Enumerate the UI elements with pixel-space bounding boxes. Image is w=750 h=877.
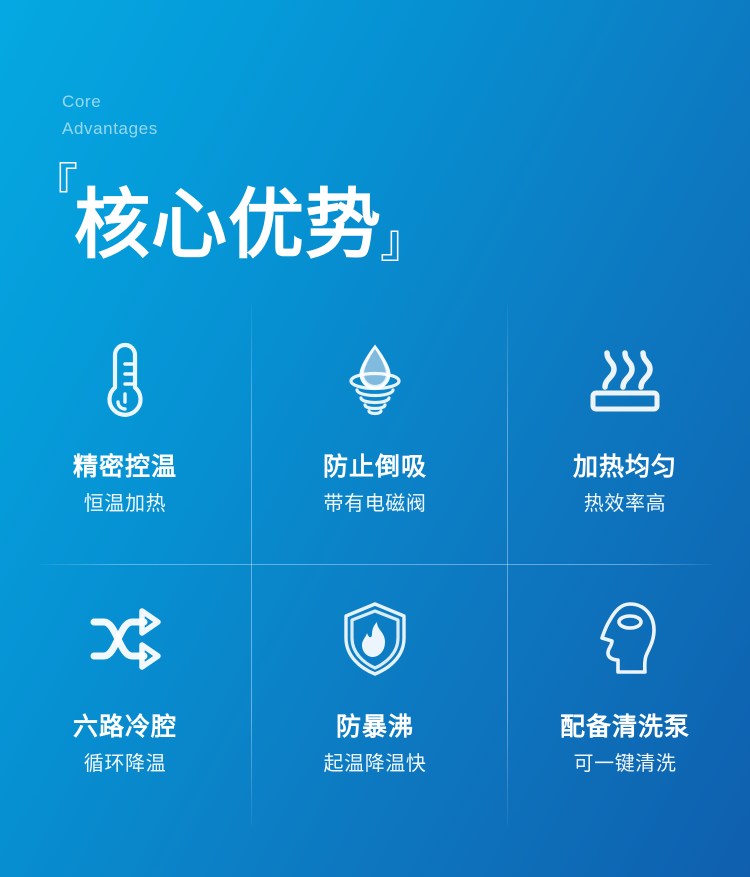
bracket-open-icon: 『	[32, 162, 78, 208]
feature-subtitle: 可一键清洗	[574, 749, 677, 777]
page-title: 『 核心优势 』	[32, 158, 426, 268]
feature-title: 六路冷腔	[73, 711, 177, 743]
feature-subtitle: 带有电磁阀	[324, 489, 427, 517]
feature-cell-5: 防暴沸 起温降温快	[250, 565, 500, 825]
shield-flame-icon	[340, 593, 410, 685]
shuffle-arrows-icon	[86, 593, 164, 685]
feature-title: 精密控温	[73, 451, 177, 483]
feature-cell-4: 六路冷腔 循环降温	[0, 565, 250, 825]
feature-subtitle: 起温降温快	[324, 749, 427, 777]
header: Core Advantages	[62, 88, 682, 142]
title-text: 核心优势	[74, 182, 382, 268]
core-advantages-poster: Core Advantages 『 核心优势 』 精密控温	[0, 0, 750, 877]
eyebrow-text: Core Advantages	[62, 88, 682, 142]
feature-subtitle: 恒温加热	[84, 489, 166, 517]
feature-cell-3: 加热均匀 热效率高	[500, 305, 750, 565]
feature-cell-2: 防止倒吸 带有电磁阀	[250, 305, 500, 565]
thermometer-icon	[94, 333, 156, 425]
feature-grid: 精密控温 恒温加热 防止倒吸 带有电磁阀	[0, 305, 750, 825]
feature-cell-1: 精密控温 恒温加热	[0, 305, 250, 565]
head-profile-icon	[592, 593, 658, 685]
feature-subtitle: 热效率高	[584, 489, 666, 517]
eyebrow-line-1: Core	[62, 88, 682, 115]
feature-title: 防暴沸	[336, 711, 414, 743]
feature-title: 配备清洗泵	[560, 711, 690, 743]
feature-cell-6: 配备清洗泵 可一键清洗	[500, 565, 750, 825]
feature-title: 加热均匀	[573, 451, 677, 483]
feature-subtitle: 循环降温	[84, 749, 166, 777]
bracket-close-icon: 』	[380, 218, 426, 264]
heating-element-icon	[583, 333, 667, 425]
water-drop-ripple-icon	[335, 333, 415, 425]
feature-title: 防止倒吸	[323, 451, 427, 483]
eyebrow-line-2: Advantages	[62, 115, 682, 142]
